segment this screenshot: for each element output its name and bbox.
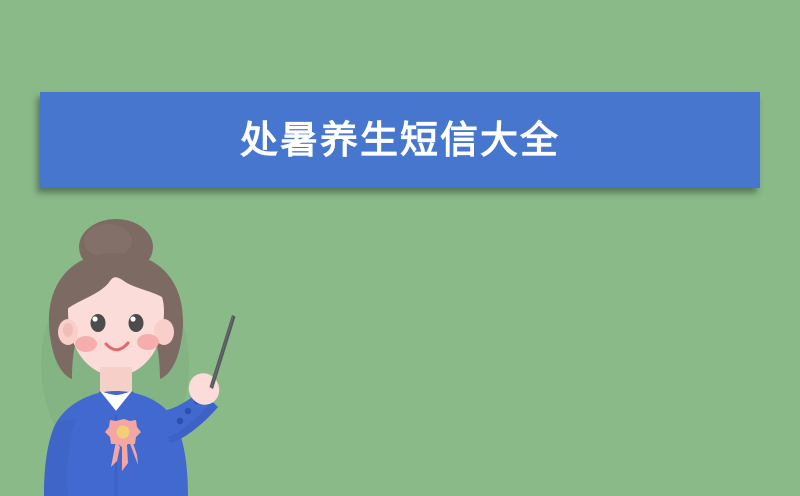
left-cheek bbox=[75, 336, 97, 352]
right-cheek bbox=[137, 334, 159, 350]
pointer-stick-highlight bbox=[211, 316, 234, 388]
left-eye-highlight bbox=[92, 316, 97, 321]
page-title: 处暑养生短信大全 bbox=[240, 121, 560, 159]
right-eye-icon bbox=[129, 314, 144, 332]
slide-canvas: 处暑养生短信大全 bbox=[0, 0, 800, 496]
teacher-illustration bbox=[20, 215, 260, 496]
title-banner: 处暑养生短信大全 bbox=[40, 92, 760, 188]
right-eye-highlight bbox=[130, 316, 135, 321]
badge-center bbox=[117, 426, 130, 439]
left-ear-inner bbox=[63, 323, 73, 337]
left-eye-icon bbox=[91, 314, 106, 332]
sleeve-button-3 bbox=[177, 418, 183, 424]
sleeve-button-1 bbox=[185, 408, 191, 414]
hair-bun-highlight bbox=[84, 224, 132, 258]
